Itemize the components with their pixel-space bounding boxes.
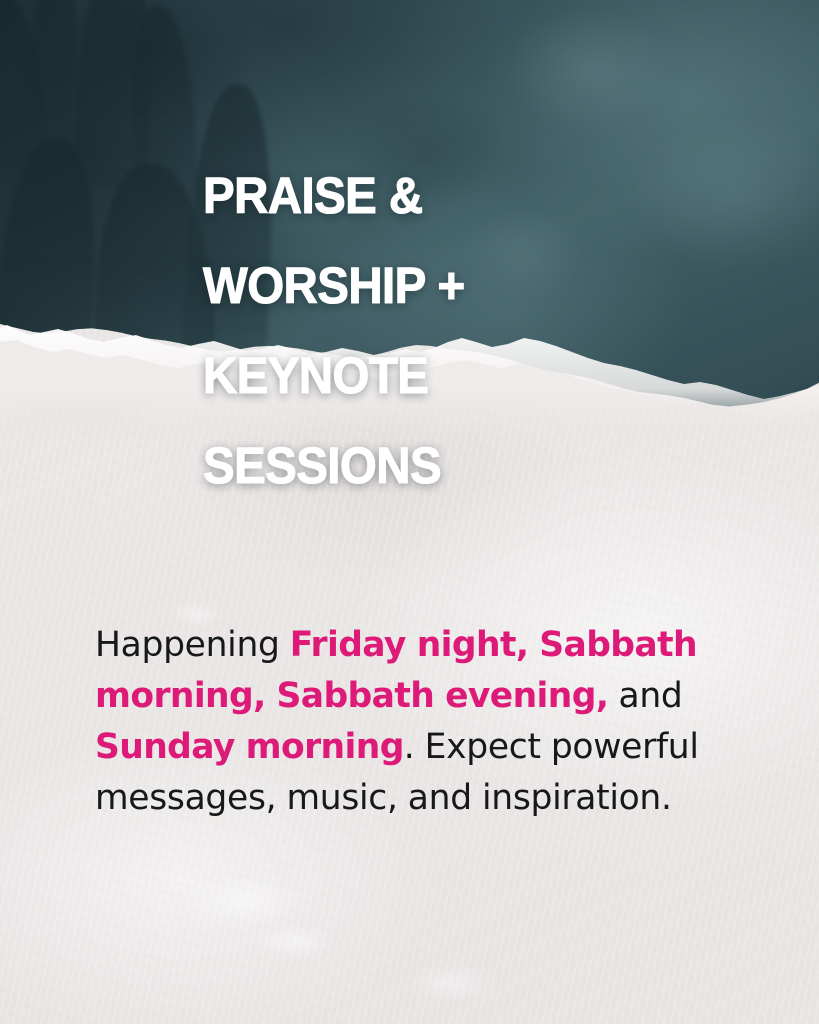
headline-line-2: WORSHIP + [203,263,465,308]
headline-line-4: SESSIONS [203,443,465,488]
headline-line-1: PRAISE & [203,173,465,218]
body-segment-highlight-2: Sunday morning [95,727,404,767]
headline-line-3: KEYNOTE [203,353,465,398]
body-segment-conjunction: and [608,676,682,716]
body-paragraph: Happening Friday night, Sabbath morning,… [95,620,735,824]
body-segment-lead: Happening [95,625,290,665]
poster-canvas: PRAISE & WORSHIP + KEYNOTE SESSIONS Happ… [0,0,819,1024]
hero-headline: PRAISE & WORSHIP + KEYNOTE SESSIONS [203,128,465,533]
